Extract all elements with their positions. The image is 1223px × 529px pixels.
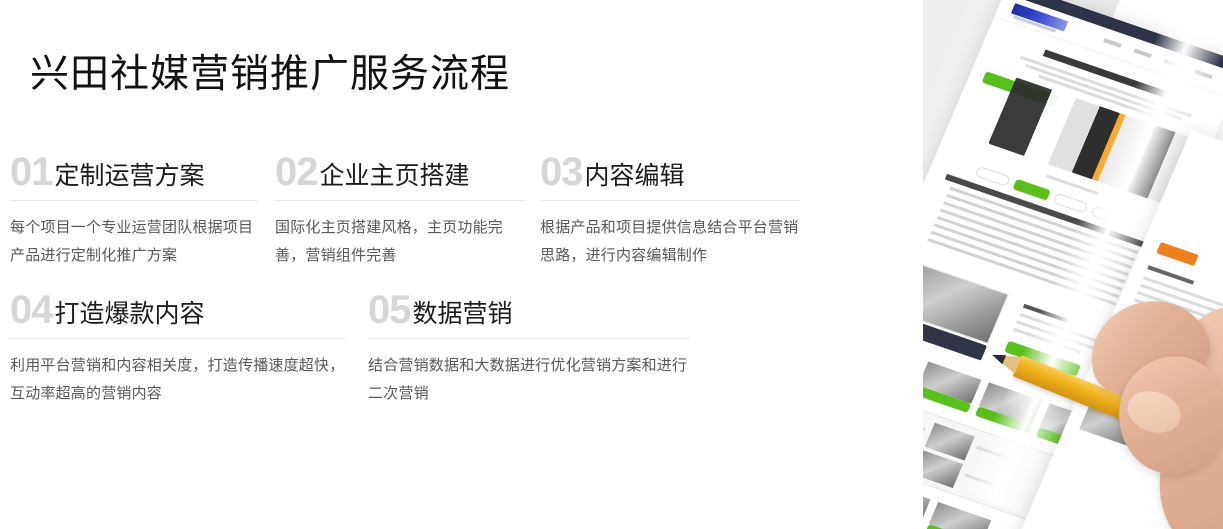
step-description: 结合营销数据和大数据进行优化营销方案和进行二次营销 [368,352,690,408]
content-column: 兴田社媒营销推广服务流程 01 定制运营方案 每个项目一个专业运营团队根据项目产… [0,0,830,529]
step-number: 03 [540,152,583,192]
step-title: 打造爆款内容 [55,299,205,329]
step-title: 定制运营方案 [55,161,205,191]
step-title: 企业主页搭建 [320,161,470,191]
step-divider [540,200,800,201]
step-header: 02 企业主页搭建 [275,150,525,192]
page-title: 兴田社媒营销推广服务流程 [30,52,510,98]
step-number: 04 [10,290,53,330]
step-number: 02 [275,152,318,192]
mockup-alt-button[interactable] [1156,242,1199,266]
step-header: 03 内容编辑 [540,150,800,192]
promo-banner: 兴田社媒营销推广服务流程 01 定制运营方案 每个项目一个专业运营团队根据项目产… [0,0,1223,529]
step-description: 根据产品和项目提供信息结合平台营销思路，进行内容编辑制作 [540,214,800,270]
step-header: 05 数据营销 [368,288,690,330]
mockup-filter-pill[interactable] [1090,206,1117,224]
hand-with-pencil [1015,300,1223,529]
step-title: 数据营销 [413,299,513,329]
mockup-product-thumb [929,502,991,529]
mockup-product-thumb [923,481,931,521]
step-item-04: 04 打造爆款内容 利用平台营销和内容相关度，打造传播速度超快，互动率超高的营销… [10,288,345,408]
step-divider [275,200,525,201]
step-header: 01 定制运营方案 [10,150,258,192]
step-description: 每个项目一个专业运营团队根据项目产品进行定制化推广方案 [10,214,258,270]
step-item-02: 02 企业主页搭建 国际化主页搭建风格，主页功能完善，营销组件完善 [275,150,525,270]
step-title: 内容编辑 [585,161,685,191]
step-number: 05 [368,290,411,330]
step-divider [10,200,258,201]
step-divider [368,338,690,339]
mockup-filter-pill[interactable] [1052,192,1089,213]
step-item-05: 05 数据营销 结合营销数据和大数据进行优化营销方案和进行二次营销 [368,288,690,408]
step-item-01: 01 定制运营方案 每个项目一个专业运营团队根据项目产品进行定制化推广方案 [10,150,258,270]
step-description: 国际化主页搭建风格，主页功能完善，营销组件完善 [275,214,525,270]
step-header: 04 打造爆款内容 [10,288,345,330]
mockup-filter-pill[interactable] [975,166,1012,187]
step-number: 01 [10,152,53,192]
step-description: 利用平台营销和内容相关度，打造传播速度超快，互动率超高的营销内容 [10,352,345,408]
step-item-03: 03 内容编辑 根据产品和项目提供信息结合平台营销思路，进行内容编辑制作 [540,150,800,270]
website-mockup-illustration [923,0,1223,529]
step-divider [10,338,345,339]
